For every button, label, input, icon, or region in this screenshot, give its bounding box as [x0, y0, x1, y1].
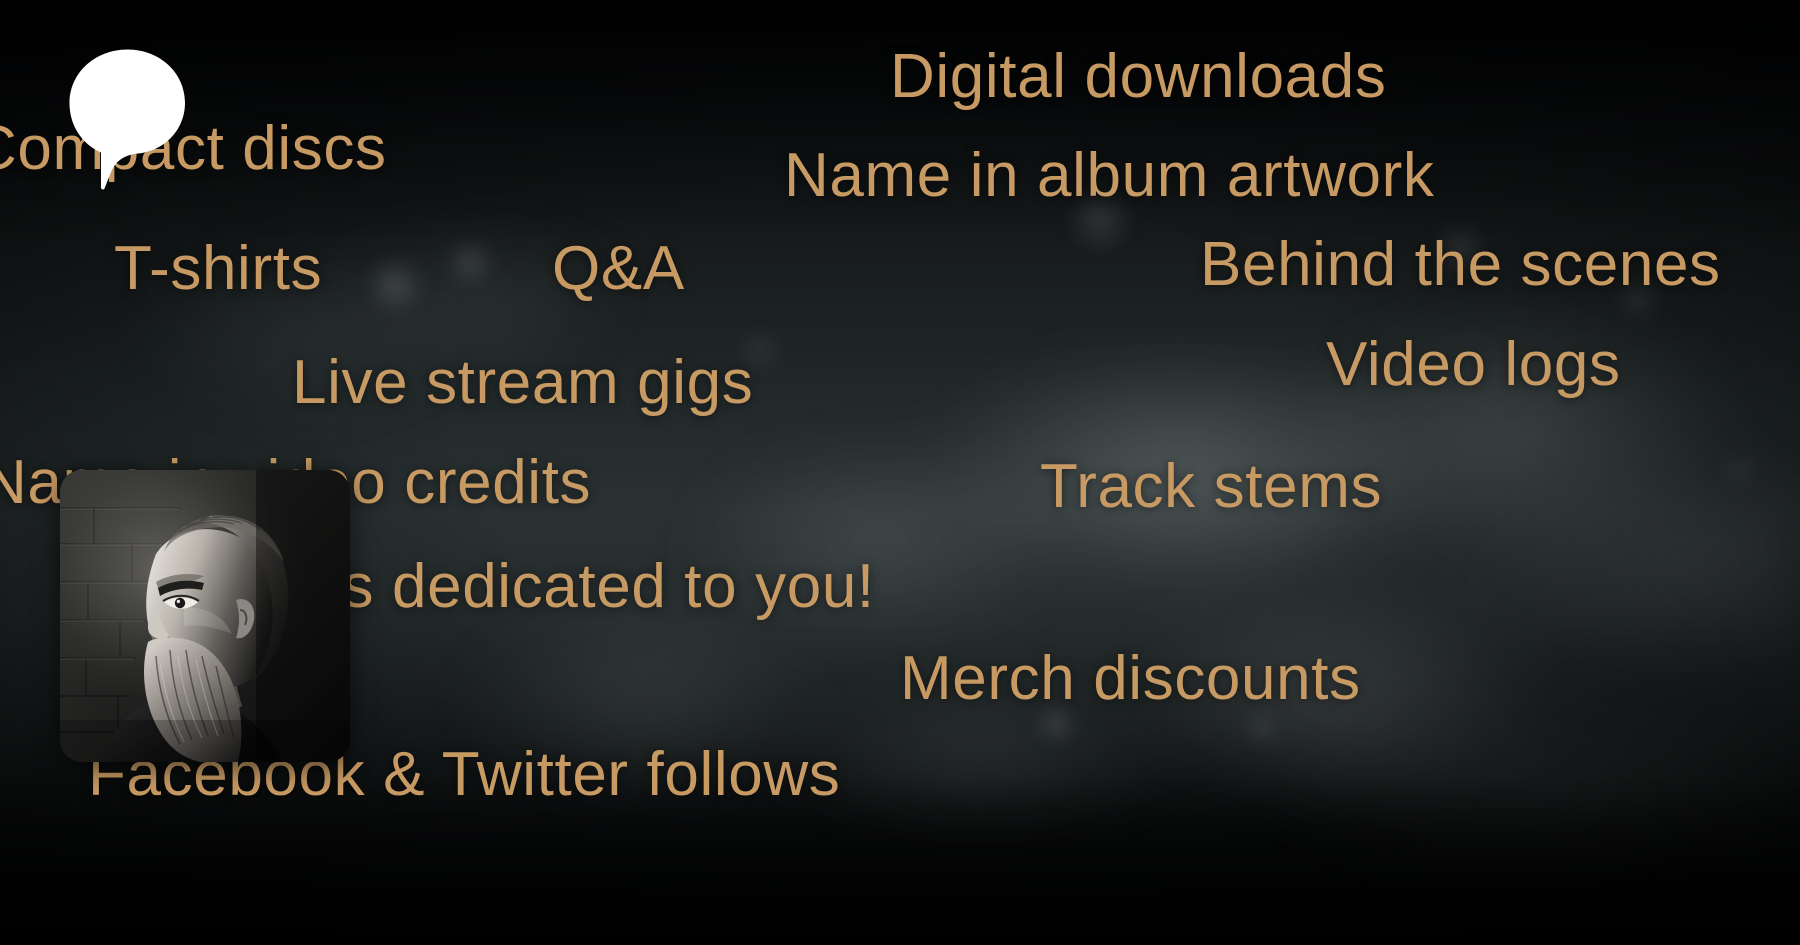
creator-banner: Compact discsDigital downloadsName in al… — [0, 0, 1800, 945]
patreon-logo — [68, 48, 186, 190]
creator-avatar[interactable] — [60, 470, 350, 762]
perk-live-stream-gigs: Live stream gigs — [292, 352, 753, 414]
perk-digital-downloads: Digital downloads — [890, 46, 1387, 108]
perk-behind-the-scenes: Behind the scenes — [1200, 234, 1721, 296]
perk-t-shirts: T-shirts — [114, 238, 322, 300]
perk-video-logs: Video logs — [1326, 334, 1621, 396]
perk-track-stems: Track stems — [1040, 456, 1382, 518]
perk-q-and-a: Q&A — [552, 238, 685, 300]
perk-compact-discs: Compact discs — [0, 118, 387, 180]
perk-name-in-album-artwork: Name in album artwork — [784, 145, 1434, 207]
perk-merch-discounts: Merch discounts — [900, 648, 1361, 710]
